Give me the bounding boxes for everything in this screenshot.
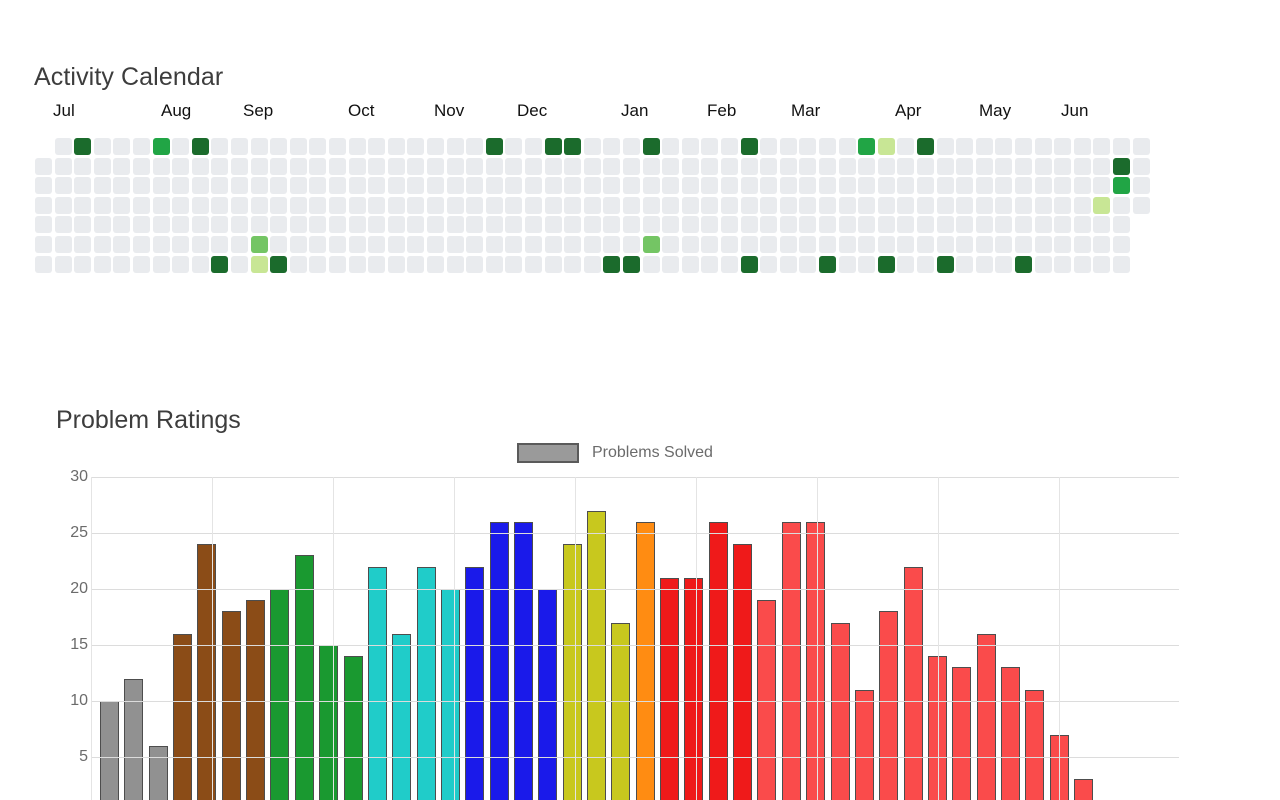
bar[interactable] [952, 667, 971, 800]
calendar-day-cell[interactable] [251, 197, 268, 214]
calendar-day-cell[interactable] [564, 177, 581, 194]
calendar-day-cell[interactable] [897, 158, 914, 175]
calendar-day-cell[interactable] [917, 216, 934, 233]
calendar-day-cell[interactable] [937, 177, 954, 194]
calendar-day-cell[interactable] [995, 256, 1012, 273]
calendar-day-cell[interactable] [153, 177, 170, 194]
calendar-day-cell[interactable] [505, 197, 522, 214]
calendar-day-cell[interactable] [290, 256, 307, 273]
calendar-day-cell[interactable] [819, 236, 836, 253]
calendar-day-cell[interactable] [35, 177, 52, 194]
calendar-day-cell[interactable] [74, 216, 91, 233]
calendar-day-cell[interactable] [819, 138, 836, 155]
calendar-day-cell[interactable] [741, 236, 758, 253]
calendar-day-cell[interactable] [525, 197, 542, 214]
calendar-day-cell[interactable] [192, 158, 209, 175]
calendar-day-cell[interactable] [94, 197, 111, 214]
calendar-day-cell[interactable] [623, 236, 640, 253]
calendar-day-cell[interactable] [466, 236, 483, 253]
calendar-day-cell[interactable] [427, 138, 444, 155]
calendar-day-cell[interactable] [407, 197, 424, 214]
calendar-day-cell[interactable] [701, 236, 718, 253]
bar[interactable] [1001, 667, 1020, 800]
calendar-day-cell[interactable] [760, 236, 777, 253]
calendar-day-cell[interactable] [623, 216, 640, 233]
calendar-day-cell[interactable] [74, 158, 91, 175]
calendar-day-cell[interactable] [407, 216, 424, 233]
calendar-day-cell[interactable] [799, 158, 816, 175]
calendar-day-cell[interactable] [349, 138, 366, 155]
bar[interactable] [806, 522, 825, 800]
calendar-day-cell[interactable] [251, 138, 268, 155]
calendar-day-cell[interactable] [94, 138, 111, 155]
calendar-day-cell[interactable] [760, 197, 777, 214]
calendar-day-cell[interactable] [623, 197, 640, 214]
calendar-day-cell[interactable] [819, 158, 836, 175]
calendar-day-cell[interactable] [564, 216, 581, 233]
calendar-day-cell[interactable] [407, 256, 424, 273]
calendar-day-cell[interactable] [113, 138, 130, 155]
calendar-day-cell[interactable] [917, 197, 934, 214]
calendar-day-cell[interactable] [780, 177, 797, 194]
calendar-day-cell[interactable] [799, 177, 816, 194]
calendar-day-cell[interactable] [878, 177, 895, 194]
bar[interactable] [1074, 779, 1093, 800]
calendar-day-cell[interactable] [584, 256, 601, 273]
calendar-day-cell[interactable] [1074, 197, 1091, 214]
calendar-day-cell[interactable] [172, 256, 189, 273]
calendar-day-cell[interactable] [290, 236, 307, 253]
calendar-day-cell[interactable] [486, 158, 503, 175]
calendar-day-cell[interactable] [525, 256, 542, 273]
calendar-day-cell[interactable] [270, 216, 287, 233]
calendar-day-cell[interactable] [545, 138, 562, 155]
calendar-day-cell[interactable] [780, 158, 797, 175]
calendar-day-cell[interactable] [74, 197, 91, 214]
bar[interactable] [441, 589, 460, 800]
calendar-day-cell[interactable] [819, 216, 836, 233]
bar[interactable] [319, 645, 338, 800]
calendar-day-cell[interactable] [251, 177, 268, 194]
calendar-day-cell[interactable] [94, 256, 111, 273]
calendar-day-cell[interactable] [564, 256, 581, 273]
calendar-day-cell[interactable] [1035, 177, 1052, 194]
calendar-day-cell[interactable] [956, 236, 973, 253]
calendar-day-cell[interactable] [1074, 138, 1091, 155]
calendar-day-cell[interactable] [1035, 256, 1052, 273]
calendar-day-cell[interactable] [211, 236, 228, 253]
bar[interactable] [149, 746, 168, 800]
calendar-day-cell[interactable] [447, 158, 464, 175]
calendar-day-cell[interactable] [388, 177, 405, 194]
calendar-day-cell[interactable] [701, 177, 718, 194]
calendar-day-cell[interactable] [211, 256, 228, 273]
calendar-day-cell[interactable] [682, 236, 699, 253]
bar[interactable] [855, 690, 874, 800]
bar[interactable] [879, 611, 898, 800]
calendar-day-cell[interactable] [897, 138, 914, 155]
bar[interactable] [222, 611, 241, 800]
calendar-day-cell[interactable] [643, 138, 660, 155]
calendar-day-cell[interactable] [897, 236, 914, 253]
calendar-day-cell[interactable] [603, 177, 620, 194]
calendar-day-cell[interactable] [466, 197, 483, 214]
calendar-day-cell[interactable] [701, 256, 718, 273]
calendar-day-cell[interactable] [721, 216, 738, 233]
calendar-day-cell[interactable] [133, 177, 150, 194]
calendar-day-cell[interactable] [956, 177, 973, 194]
calendar-day-cell[interactable] [917, 236, 934, 253]
calendar-day-cell[interactable] [1074, 158, 1091, 175]
calendar-day-cell[interactable] [741, 177, 758, 194]
calendar-day-cell[interactable] [368, 236, 385, 253]
calendar-day-cell[interactable] [682, 216, 699, 233]
calendar-day-cell[interactable] [1035, 138, 1052, 155]
calendar-day-cell[interactable] [368, 138, 385, 155]
calendar-day-cell[interactable] [525, 236, 542, 253]
calendar-day-cell[interactable] [251, 216, 268, 233]
calendar-day-cell[interactable] [623, 138, 640, 155]
calendar-day-cell[interactable] [799, 138, 816, 155]
calendar-day-cell[interactable] [153, 197, 170, 214]
calendar-day-cell[interactable] [113, 177, 130, 194]
calendar-day-cell[interactable] [799, 216, 816, 233]
calendar-day-cell[interactable] [1015, 138, 1032, 155]
calendar-day-cell[interactable] [427, 236, 444, 253]
calendar-day-cell[interactable] [937, 236, 954, 253]
calendar-day-cell[interactable] [1113, 158, 1130, 175]
calendar-day-cell[interactable] [721, 236, 738, 253]
calendar-day-cell[interactable] [564, 197, 581, 214]
calendar-day-cell[interactable] [643, 236, 660, 253]
calendar-day-cell[interactable] [407, 177, 424, 194]
calendar-day-cell[interactable] [780, 138, 797, 155]
calendar-day-cell[interactable] [545, 197, 562, 214]
calendar-day-cell[interactable] [270, 138, 287, 155]
calendar-day-cell[interactable] [309, 177, 326, 194]
calendar-day-cell[interactable] [858, 158, 875, 175]
bar[interactable] [368, 567, 387, 800]
bar[interactable] [344, 656, 363, 800]
calendar-day-cell[interactable] [937, 216, 954, 233]
calendar-day-cell[interactable] [858, 216, 875, 233]
calendar-day-cell[interactable] [270, 236, 287, 253]
bar[interactable] [246, 600, 265, 800]
calendar-day-cell[interactable] [584, 236, 601, 253]
calendar-day-cell[interactable] [55, 216, 72, 233]
calendar-day-cell[interactable] [956, 256, 973, 273]
calendar-day-cell[interactable] [231, 216, 248, 233]
calendar-day-cell[interactable] [55, 158, 72, 175]
calendar-day-cell[interactable] [329, 216, 346, 233]
bar[interactable] [270, 589, 289, 800]
calendar-day-cell[interactable] [427, 256, 444, 273]
calendar-day-cell[interactable] [741, 197, 758, 214]
calendar-day-cell[interactable] [309, 197, 326, 214]
calendar-day-cell[interactable] [917, 158, 934, 175]
calendar-day-cell[interactable] [133, 138, 150, 155]
calendar-day-cell[interactable] [662, 197, 679, 214]
calendar-day-cell[interactable] [270, 158, 287, 175]
calendar-day-cell[interactable] [486, 216, 503, 233]
calendar-day-cell[interactable] [721, 256, 738, 273]
calendar-day-cell[interactable] [505, 236, 522, 253]
calendar-day-cell[interactable] [427, 177, 444, 194]
calendar-day-cell[interactable] [545, 177, 562, 194]
calendar-day-cell[interactable] [937, 158, 954, 175]
calendar-day-cell[interactable] [368, 197, 385, 214]
calendar-day-cell[interactable] [897, 177, 914, 194]
calendar-day-cell[interactable] [682, 197, 699, 214]
calendar-day-cell[interactable] [309, 216, 326, 233]
calendar-day-cell[interactable] [662, 216, 679, 233]
calendar-day-cell[interactable] [662, 177, 679, 194]
calendar-day-cell[interactable] [917, 256, 934, 273]
calendar-day-cell[interactable] [917, 177, 934, 194]
calendar-day-cell[interactable] [368, 158, 385, 175]
calendar-day-cell[interactable] [192, 256, 209, 273]
calendar-day-cell[interactable] [643, 158, 660, 175]
calendar-day-cell[interactable] [94, 216, 111, 233]
bar[interactable] [295, 555, 314, 800]
calendar-day-cell[interactable] [1113, 216, 1130, 233]
bar[interactable] [757, 600, 776, 800]
bar[interactable] [514, 522, 533, 800]
calendar-day-cell[interactable] [584, 138, 601, 155]
calendar-day-cell[interactable] [623, 256, 640, 273]
calendar-day-cell[interactable] [643, 177, 660, 194]
bar[interactable] [417, 567, 436, 800]
calendar-day-cell[interactable] [1113, 256, 1130, 273]
calendar-day-cell[interactable] [349, 236, 366, 253]
calendar-day-cell[interactable] [329, 197, 346, 214]
calendar-day-cell[interactable] [603, 236, 620, 253]
calendar-day-cell[interactable] [976, 256, 993, 273]
calendar-day-cell[interactable] [231, 197, 248, 214]
calendar-day-cell[interactable] [211, 158, 228, 175]
calendar-day-cell[interactable] [505, 256, 522, 273]
calendar-day-cell[interactable] [368, 256, 385, 273]
calendar-day-cell[interactable] [486, 236, 503, 253]
calendar-day-cell[interactable] [505, 138, 522, 155]
calendar-day-cell[interactable] [466, 177, 483, 194]
calendar-day-cell[interactable] [153, 158, 170, 175]
calendar-day-cell[interactable] [839, 216, 856, 233]
calendar-day-cell[interactable] [74, 236, 91, 253]
calendar-day-cell[interactable] [55, 197, 72, 214]
calendar-day-cell[interactable] [1133, 138, 1150, 155]
calendar-day-cell[interactable] [1074, 236, 1091, 253]
calendar-day-cell[interactable] [937, 138, 954, 155]
calendar-day-cell[interactable] [1054, 256, 1071, 273]
calendar-day-cell[interactable] [662, 236, 679, 253]
calendar-day-cell[interactable] [329, 138, 346, 155]
calendar-day-cell[interactable] [525, 158, 542, 175]
calendar-day-cell[interactable] [74, 138, 91, 155]
calendar-day-cell[interactable] [192, 216, 209, 233]
calendar-day-cell[interactable] [545, 256, 562, 273]
calendar-day-cell[interactable] [349, 177, 366, 194]
calendar-day-cell[interactable] [35, 256, 52, 273]
calendar-day-cell[interactable] [211, 138, 228, 155]
calendar-day-cell[interactable] [584, 197, 601, 214]
calendar-day-cell[interactable] [505, 177, 522, 194]
calendar-day-cell[interactable] [1015, 158, 1032, 175]
calendar-day-cell[interactable] [172, 138, 189, 155]
calendar-day-cell[interactable] [486, 197, 503, 214]
calendar-day-cell[interactable] [897, 197, 914, 214]
calendar-day-cell[interactable] [270, 197, 287, 214]
calendar-day-cell[interactable] [466, 158, 483, 175]
calendar-day-cell[interactable] [290, 158, 307, 175]
calendar-day-cell[interactable] [643, 197, 660, 214]
calendar-day-cell[interactable] [1074, 256, 1091, 273]
calendar-day-cell[interactable] [113, 236, 130, 253]
bar[interactable] [709, 522, 728, 800]
calendar-day-cell[interactable] [329, 177, 346, 194]
calendar-day-cell[interactable] [760, 158, 777, 175]
calendar-day-cell[interactable] [603, 216, 620, 233]
calendar-day-cell[interactable] [741, 138, 758, 155]
calendar-day-cell[interactable] [388, 236, 405, 253]
calendar-day-cell[interactable] [349, 256, 366, 273]
calendar-day-cell[interactable] [995, 158, 1012, 175]
bar[interactable] [636, 522, 655, 800]
calendar-day-cell[interactable] [1113, 177, 1130, 194]
calendar-day-cell[interactable] [701, 158, 718, 175]
calendar-day-cell[interactable] [35, 216, 52, 233]
calendar-day-cell[interactable] [1054, 236, 1071, 253]
calendar-day-cell[interactable] [1015, 236, 1032, 253]
calendar-day-cell[interactable] [956, 138, 973, 155]
calendar-day-cell[interactable] [349, 158, 366, 175]
calendar-day-cell[interactable] [1015, 197, 1032, 214]
calendar-day-cell[interactable] [780, 197, 797, 214]
calendar-day-cell[interactable] [721, 138, 738, 155]
calendar-day-cell[interactable] [388, 158, 405, 175]
calendar-day-cell[interactable] [447, 236, 464, 253]
calendar-day-cell[interactable] [466, 216, 483, 233]
calendar-day-cell[interactable] [799, 236, 816, 253]
calendar-day-cell[interactable] [1035, 158, 1052, 175]
calendar-day-cell[interactable] [741, 158, 758, 175]
calendar-day-cell[interactable] [133, 216, 150, 233]
calendar-day-cell[interactable] [1054, 138, 1071, 155]
calendar-day-cell[interactable] [1074, 177, 1091, 194]
calendar-day-cell[interactable] [251, 256, 268, 273]
calendar-day-cell[interactable] [603, 158, 620, 175]
calendar-day-cell[interactable] [976, 158, 993, 175]
calendar-day-cell[interactable] [525, 177, 542, 194]
bar[interactable] [124, 679, 143, 800]
calendar-day-cell[interactable] [1035, 216, 1052, 233]
calendar-day-cell[interactable] [878, 138, 895, 155]
calendar-day-cell[interactable] [545, 236, 562, 253]
calendar-day-cell[interactable] [290, 216, 307, 233]
calendar-day-cell[interactable] [172, 177, 189, 194]
calendar-day-cell[interactable] [113, 197, 130, 214]
calendar-day-cell[interactable] [976, 138, 993, 155]
calendar-day-cell[interactable] [1015, 256, 1032, 273]
calendar-day-cell[interactable] [113, 256, 130, 273]
calendar-day-cell[interactable] [192, 177, 209, 194]
calendar-day-cell[interactable] [1093, 158, 1110, 175]
calendar-day-cell[interactable] [427, 158, 444, 175]
calendar-day-cell[interactable] [780, 216, 797, 233]
calendar-day-cell[interactable] [682, 256, 699, 273]
calendar-day-cell[interactable] [329, 158, 346, 175]
bar[interactable] [684, 578, 703, 800]
calendar-day-cell[interactable] [741, 256, 758, 273]
calendar-day-cell[interactable] [1015, 177, 1032, 194]
bar[interactable] [197, 544, 216, 800]
calendar-day-cell[interactable] [564, 158, 581, 175]
bar[interactable] [100, 701, 119, 800]
bar[interactable] [977, 634, 996, 800]
calendar-day-cell[interactable] [55, 177, 72, 194]
calendar-day-cell[interactable] [662, 256, 679, 273]
calendar-day-cell[interactable] [35, 236, 52, 253]
calendar-day-cell[interactable] [486, 177, 503, 194]
calendar-day-cell[interactable] [349, 197, 366, 214]
calendar-day-cell[interactable] [897, 256, 914, 273]
calendar-day-cell[interactable] [447, 138, 464, 155]
calendar-day-cell[interactable] [94, 177, 111, 194]
calendar-day-cell[interactable] [1054, 158, 1071, 175]
calendar-day-cell[interactable] [172, 197, 189, 214]
calendar-day-cell[interactable] [388, 138, 405, 155]
calendar-day-cell[interactable] [1093, 236, 1110, 253]
calendar-day-cell[interactable] [839, 256, 856, 273]
calendar-day-cell[interactable] [956, 158, 973, 175]
calendar-day-cell[interactable] [701, 216, 718, 233]
bar[interactable] [538, 589, 557, 800]
calendar-day-cell[interactable] [447, 177, 464, 194]
calendar-day-cell[interactable] [94, 236, 111, 253]
bar[interactable] [490, 522, 509, 800]
calendar-day-cell[interactable] [388, 256, 405, 273]
calendar-day-cell[interactable] [819, 177, 836, 194]
calendar-day-cell[interactable] [1035, 236, 1052, 253]
calendar-day-cell[interactable] [584, 158, 601, 175]
calendar-day-cell[interactable] [721, 177, 738, 194]
calendar-day-cell[interactable] [878, 197, 895, 214]
calendar-day-cell[interactable] [721, 158, 738, 175]
calendar-day-cell[interactable] [682, 158, 699, 175]
calendar-day-cell[interactable] [995, 138, 1012, 155]
calendar-day-cell[interactable] [74, 256, 91, 273]
calendar-day-cell[interactable] [721, 197, 738, 214]
calendar-day-cell[interactable] [231, 158, 248, 175]
calendar-day-cell[interactable] [937, 256, 954, 273]
calendar-day-cell[interactable] [1054, 177, 1071, 194]
calendar-day-cell[interactable] [486, 138, 503, 155]
calendar-day-cell[interactable] [368, 177, 385, 194]
bar[interactable] [904, 567, 923, 800]
calendar-day-cell[interactable] [603, 197, 620, 214]
calendar-day-cell[interactable] [231, 256, 248, 273]
calendar-day-cell[interactable] [192, 197, 209, 214]
calendar-day-cell[interactable] [329, 236, 346, 253]
calendar-day-cell[interactable] [133, 236, 150, 253]
bar[interactable] [782, 522, 801, 800]
calendar-day-cell[interactable] [897, 216, 914, 233]
calendar-day-cell[interactable] [388, 216, 405, 233]
calendar-day-cell[interactable] [290, 197, 307, 214]
calendar-day-cell[interactable] [55, 236, 72, 253]
calendar-day-cell[interactable] [231, 236, 248, 253]
calendar-day-cell[interactable] [407, 236, 424, 253]
